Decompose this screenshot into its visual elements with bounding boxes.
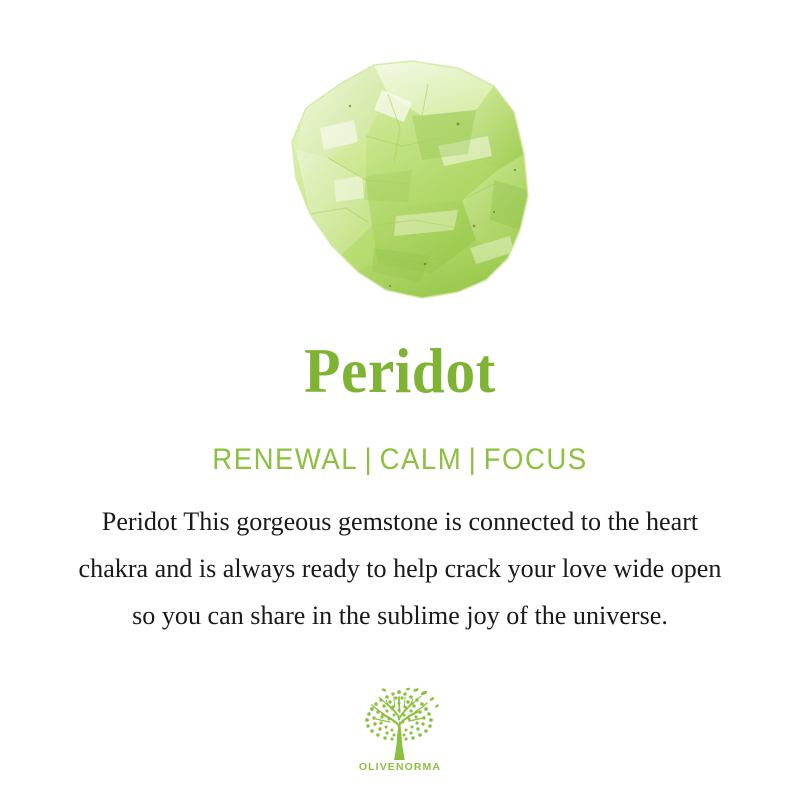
hero-image-area [0, 0, 800, 320]
brand-logo: OLIVENORMA [350, 686, 450, 784]
gemstone-info-card: Peridot RENEWAL|CALM|FOCUS Peridot This … [0, 0, 800, 800]
logo-wordmark: OLIVENORMA [359, 761, 441, 773]
page-title: Peridot [28, 336, 772, 406]
tagline-separator: | [358, 443, 380, 476]
description-line: chakra and is always ready to help crack… [6, 545, 794, 592]
keyword-tagline: RENEWAL|CALM|FOCUS [32, 441, 768, 479]
tagline-item-focus: FOCUS [484, 443, 588, 476]
tagline-separator: | [462, 443, 484, 476]
tagline-item-calm: CALM [380, 443, 463, 476]
description-line: Peridot This gorgeous gemstone is connec… [6, 498, 794, 545]
description-paragraph: Peridot This gorgeous gemstone is connec… [0, 498, 800, 639]
description-line: so you can share in the sublime joy of t… [6, 592, 794, 639]
tree-icon [354, 686, 446, 760]
peridot-crystal-image [262, 50, 544, 312]
tagline-item-renewal: RENEWAL [212, 443, 358, 476]
